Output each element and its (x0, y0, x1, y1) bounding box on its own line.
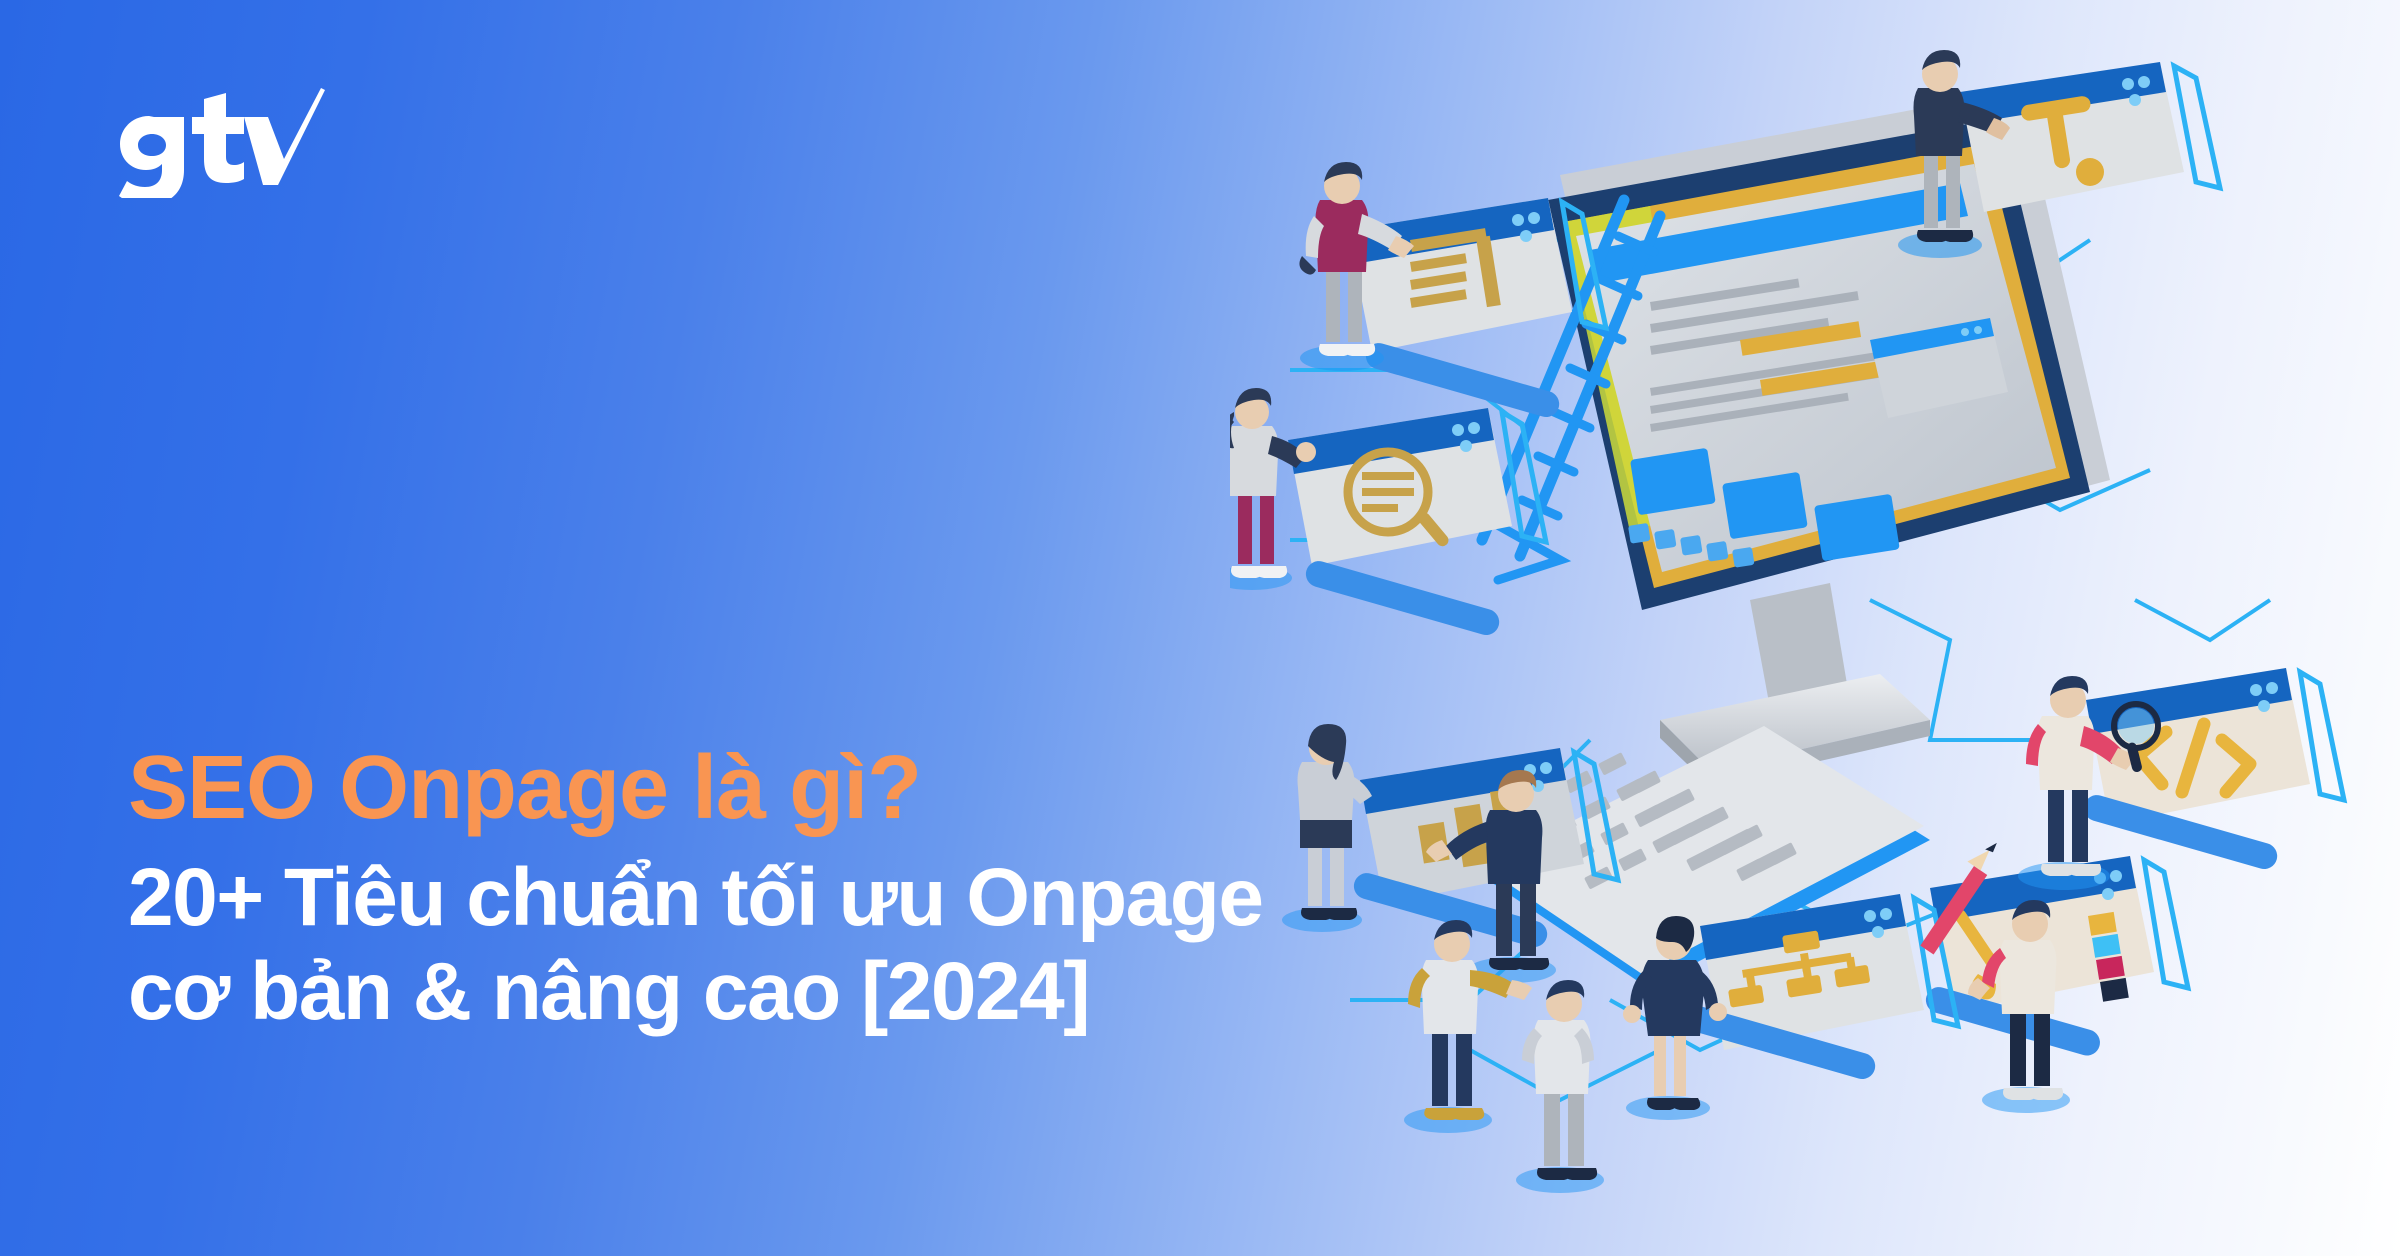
banner-canvas: SEO Onpage là gì? 20+ Tiêu chuẩn tối ưu … (0, 0, 2400, 1256)
seo-onpage-isometric-illustration (1230, 40, 2400, 1230)
person-chart-woman (1282, 724, 1372, 932)
card-search (1288, 408, 1546, 638)
person-group-a (1404, 920, 1532, 1133)
card-code (2081, 668, 2344, 872)
gtv-logo[interactable] (108, 88, 328, 198)
